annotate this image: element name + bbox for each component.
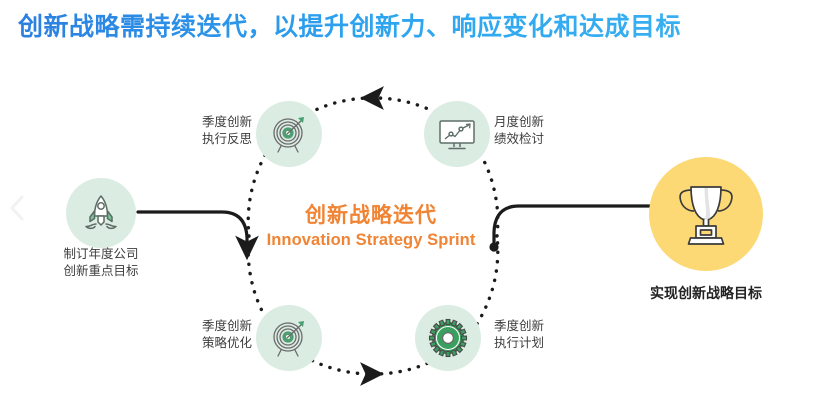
- gear-icon: [426, 316, 470, 360]
- node-step-top-right[interactable]: [424, 101, 490, 167]
- target-icon: [268, 317, 310, 359]
- slide-canvas: 创新战略需持续迭代，以提升创新力、响应变化和达成目标: [0, 0, 822, 415]
- monitor-chart-icon: [436, 113, 478, 155]
- label-tr-line2: 绩效检讨: [494, 131, 644, 148]
- label-step-top-right: 月度创新 绩效检讨: [494, 114, 644, 148]
- connector-start-to-cycle: [138, 212, 247, 250]
- center-title-cn: 创新战略迭代: [245, 203, 497, 229]
- rocket-icon: [79, 191, 123, 235]
- label-start-line2: 创新重点目标: [41, 263, 161, 280]
- label-bl-line2: 策略优化: [104, 335, 252, 352]
- label-bl-line1: 季度创新: [104, 318, 252, 335]
- node-start-rocket[interactable]: [66, 178, 136, 248]
- node-step-bottom-right[interactable]: [415, 305, 481, 371]
- connector-cycle-to-goal: [494, 206, 652, 245]
- label-start: 制订年度公司 创新重点目标: [41, 246, 161, 280]
- label-goal: 实现创新战略目标: [626, 283, 786, 303]
- label-step-bottom-right: 季度创新 执行计划: [494, 318, 644, 352]
- node-step-bottom-left[interactable]: [256, 305, 322, 371]
- label-br-line1: 季度创新: [494, 318, 644, 335]
- label-tr-line1: 月度创新: [494, 114, 644, 131]
- label-start-line1: 制订年度公司: [41, 246, 161, 263]
- center-title-en: Innovation Strategy Sprint: [245, 230, 497, 251]
- label-br-line2: 执行计划: [494, 335, 644, 352]
- label-tl-line2: 执行反思: [104, 131, 252, 148]
- label-step-top-left: 季度创新 执行反思: [104, 114, 252, 148]
- label-step-bottom-left: 季度创新 策略优化: [104, 318, 252, 352]
- node-step-top-left[interactable]: [256, 101, 322, 167]
- node-goal-trophy[interactable]: [649, 157, 763, 271]
- label-tl-line1: 季度创新: [104, 114, 252, 131]
- target-icon: [268, 113, 310, 155]
- trophy-icon: [668, 176, 744, 252]
- cycle-center-text: 创新战略迭代 Innovation Strategy Sprint: [245, 203, 497, 251]
